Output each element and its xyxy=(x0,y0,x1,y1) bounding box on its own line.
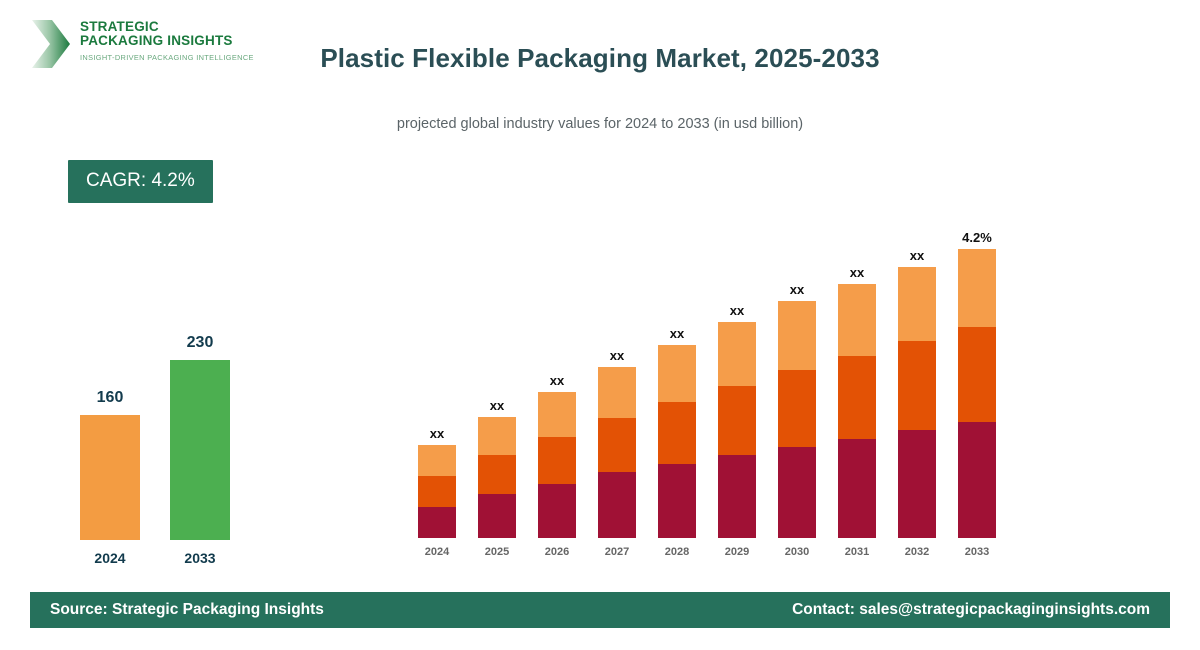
overview-bar-year-label: 2033 xyxy=(170,550,230,566)
stacked-bar xyxy=(418,445,456,538)
stacked-bar-segment-segment-top xyxy=(418,445,456,476)
stacked-bar-year-label: 2029 xyxy=(710,546,764,558)
stacked-bar-column: xx2027 xyxy=(598,220,636,560)
logo-line-1: STRATEGIC xyxy=(80,20,254,34)
overview-bar-year-label: 2024 xyxy=(80,550,140,566)
stacked-bar-segment-segment-bottom xyxy=(658,464,696,538)
stacked-bar-column: xx2028 xyxy=(658,220,696,560)
stacked-bar-year-label: 2025 xyxy=(470,546,524,558)
stacked-bar-value-label: xx xyxy=(410,426,464,441)
stacked-bar-column: xx2030 xyxy=(778,220,816,560)
stacked-bar-column: xx2031 xyxy=(838,220,876,560)
stacked-bar-segment-segment-top xyxy=(958,249,996,327)
stacked-bar-column: xx2024 xyxy=(418,220,456,560)
footer-source: Source: Strategic Packaging Insights xyxy=(50,601,324,619)
overview-bar xyxy=(80,415,140,540)
page-subtitle: projected global industry values for 202… xyxy=(0,116,1200,132)
stacked-bar-value-label: xx xyxy=(890,248,944,263)
stacked-bar-value-label: xx xyxy=(470,398,524,413)
stacked-bar xyxy=(958,249,996,538)
overview-bar-value: 230 xyxy=(170,334,230,352)
overview-bar-column: 160 xyxy=(80,330,140,540)
stacked-bar-segment-segment-top xyxy=(598,367,636,418)
stacked-bar-segment-segment-bottom xyxy=(538,484,576,538)
overview-bar-column: 230 xyxy=(170,330,230,540)
stacked-bar-segment-segment-middle xyxy=(838,356,876,439)
stacked-bar-segment-segment-bottom xyxy=(418,507,456,538)
footer-contact: Contact: sales@strategicpackaginginsight… xyxy=(792,601,1150,619)
stacked-bar xyxy=(598,367,636,538)
stacked-bar-year-label: 2031 xyxy=(830,546,884,558)
stacked-bar-column: xx2029 xyxy=(718,220,756,560)
stacked-bar-segment-segment-middle xyxy=(898,341,936,430)
stacked-bar-year-label: 2032 xyxy=(890,546,944,558)
stacked-bar-segment-segment-middle xyxy=(538,437,576,484)
stacked-bar xyxy=(478,417,516,538)
stacked-bar-column: xx2026 xyxy=(538,220,576,560)
stacked-bar-segment-segment-bottom xyxy=(478,494,516,538)
stacked-bar-segment-segment-top xyxy=(898,267,936,341)
stacked-bar-column: xx2032 xyxy=(898,220,936,560)
stacked-bar xyxy=(838,284,876,538)
stacked-bar-year-label: 2028 xyxy=(650,546,704,558)
stacked-bar-value-label: xx xyxy=(530,373,584,388)
stacked-bar-segment-segment-middle xyxy=(418,476,456,507)
stacked-bar-value-label: xx xyxy=(650,326,704,341)
page-title: Plastic Flexible Packaging Market, 2025-… xyxy=(0,43,1200,74)
stacked-bar-value-label: 4.2% xyxy=(950,230,1004,245)
stacked-bar-year-label: 2027 xyxy=(590,546,644,558)
stacked-bar-segment-segment-bottom xyxy=(598,472,636,538)
overview-bar-chart: 16020242302033 xyxy=(60,300,260,570)
stacked-bar-segment-segment-bottom xyxy=(718,455,756,538)
stacked-bar-segment-segment-middle xyxy=(478,455,516,494)
stacked-bar-segment-segment-bottom xyxy=(778,447,816,538)
stacked-bar xyxy=(658,345,696,538)
forecast-stacked-bar-chart: xx2024xx2025xx2026xx2027xx2028xx2029xx20… xyxy=(410,200,1010,560)
stacked-bar xyxy=(718,322,756,538)
stacked-bar-segment-segment-middle xyxy=(778,370,816,447)
stacked-bar xyxy=(778,301,816,538)
stacked-bar-value-label: xx xyxy=(830,265,884,280)
stacked-bar xyxy=(898,267,936,538)
stacked-bar-segment-segment-bottom xyxy=(898,430,936,538)
stacked-bar-column: 4.2%2033 xyxy=(958,220,996,560)
stacked-bar-segment-segment-top xyxy=(778,301,816,370)
stacked-bar-value-label: xx xyxy=(590,348,644,363)
stacked-bar-segment-segment-top xyxy=(478,417,516,455)
overview-bar xyxy=(170,360,230,540)
stacked-bar-segment-segment-bottom xyxy=(838,439,876,538)
stacked-bar-year-label: 2033 xyxy=(950,546,1004,558)
overview-bar-value: 160 xyxy=(80,389,140,407)
stacked-bar-segment-segment-middle xyxy=(658,402,696,464)
stacked-bar xyxy=(538,392,576,538)
stacked-bar-segment-segment-middle xyxy=(958,327,996,422)
stacked-bar-segment-segment-top xyxy=(718,322,756,386)
stacked-bar-year-label: 2026 xyxy=(530,546,584,558)
stacked-bar-segment-segment-top xyxy=(658,345,696,402)
stacked-bar-year-label: 2030 xyxy=(770,546,824,558)
cagr-badge: CAGR: 4.2% xyxy=(68,160,213,203)
stacked-bar-segment-segment-bottom xyxy=(958,422,996,538)
stacked-bar-segment-segment-top xyxy=(538,392,576,437)
stacked-bar-year-label: 2024 xyxy=(410,546,464,558)
stacked-bar-segment-segment-middle xyxy=(598,418,636,472)
stacked-bar-value-label: xx xyxy=(770,282,824,297)
stacked-bar-column: xx2025 xyxy=(478,220,516,560)
footer-bar: Source: Strategic Packaging Insights Con… xyxy=(30,592,1170,628)
stacked-bar-value-label: xx xyxy=(710,303,764,318)
stacked-bar-segment-segment-middle xyxy=(718,386,756,455)
stacked-bar-segment-segment-top xyxy=(838,284,876,356)
